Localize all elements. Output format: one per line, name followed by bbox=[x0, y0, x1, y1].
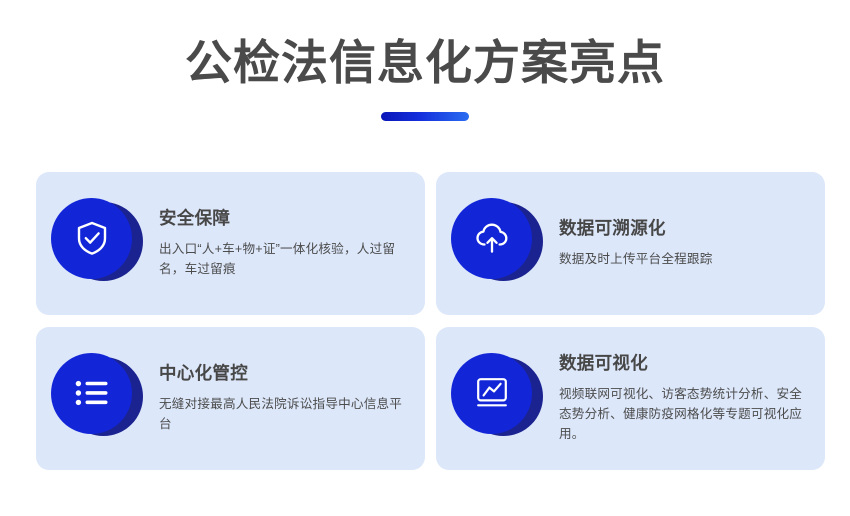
icon-badge bbox=[451, 198, 543, 290]
feature-card-security[interactable]: 安全保障 出入口“人+车+物+证”一体化核验，人过留名，车过留痕 bbox=[36, 172, 425, 315]
card-description: 视频联网可视化、访客态势统计分析、安全态势分析、健康防疫网格化等专题可视化应用。 bbox=[559, 384, 811, 444]
card-description: 出入口“人+车+物+证”一体化核验，人过留名，车过留痕 bbox=[159, 239, 409, 279]
card-title: 数据可溯源化 bbox=[559, 218, 713, 239]
card-description: 无缝对接最高人民法院诉讼指导中心信息平台 bbox=[159, 394, 409, 434]
list-icon bbox=[73, 378, 111, 408]
card-body: 数据可溯源化 数据及时上传平台全程跟踪 bbox=[559, 218, 727, 269]
icon-badge bbox=[451, 353, 543, 445]
title-underline-bar bbox=[381, 112, 469, 121]
feature-card-grid: 安全保障 出入口“人+车+物+证”一体化核验，人过留名，车过留痕 数据可溯源化 … bbox=[36, 172, 816, 470]
card-title: 数据可视化 bbox=[559, 353, 811, 374]
icon-badge-circle bbox=[51, 353, 132, 434]
icon-badge-circle bbox=[51, 198, 132, 279]
cloud-upload-icon bbox=[472, 219, 512, 257]
icon-badge bbox=[51, 198, 143, 290]
page-title: 公检法信息化方案亮点 bbox=[0, 36, 850, 90]
page-root: 公检法信息化方案亮点 安全保障 出入口“人+车+物+证”一体化核验，人过留名，车… bbox=[0, 0, 850, 516]
feature-card-data-traceability[interactable]: 数据可溯源化 数据及时上传平台全程跟踪 bbox=[436, 172, 825, 315]
chart-monitor-icon bbox=[473, 375, 511, 411]
icon-badge bbox=[51, 353, 143, 445]
card-body: 数据可视化 视频联网可视化、访客态势统计分析、安全态势分析、健康防疫网格化等专题… bbox=[559, 353, 825, 444]
card-title: 安全保障 bbox=[159, 208, 409, 229]
card-title: 中心化管控 bbox=[159, 363, 409, 384]
page-header: 公检法信息化方案亮点 bbox=[0, 0, 850, 121]
feature-card-data-visualization[interactable]: 数据可视化 视频联网可视化、访客态势统计分析、安全态势分析、健康防疫网格化等专题… bbox=[436, 327, 825, 470]
card-description: 数据及时上传平台全程跟踪 bbox=[559, 249, 713, 269]
shield-check-icon bbox=[73, 219, 111, 257]
feature-card-centralized-control[interactable]: 中心化管控 无缝对接最高人民法院诉讼指导中心信息平台 bbox=[36, 327, 425, 470]
icon-badge-circle bbox=[451, 198, 532, 279]
icon-badge-circle bbox=[451, 353, 532, 434]
card-body: 安全保障 出入口“人+车+物+证”一体化核验，人过留名，车过留痕 bbox=[159, 208, 423, 279]
card-body: 中心化管控 无缝对接最高人民法院诉讼指导中心信息平台 bbox=[159, 363, 423, 434]
